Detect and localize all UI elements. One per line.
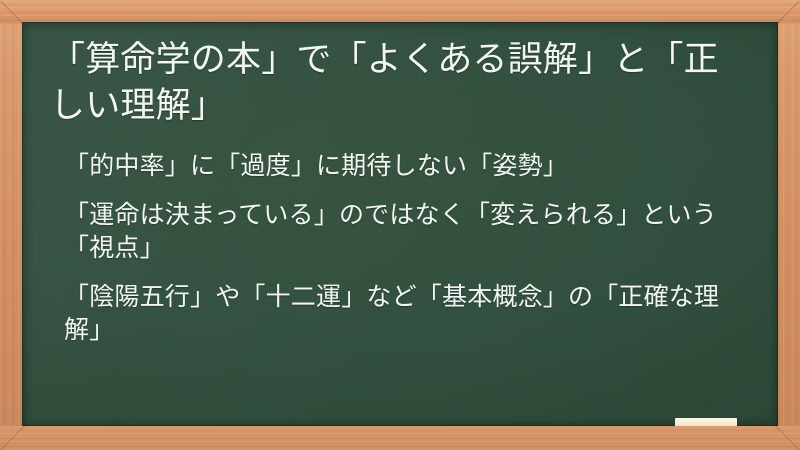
blackboard-slide: 「算命学の本」で「よくある誤解」と「正しい理解」 「的中率」に「過度」に期待しな… xyxy=(0,0,800,450)
page-title: 「算命学の本」で「よくある誤解」と「正しい理解」 xyxy=(50,38,750,129)
list-item: 「的中率」に「過度」に期待しない「姿勢」 xyxy=(50,149,744,183)
point-list: 「的中率」に「過度」に期待しない「姿勢」 「運命は決まっている」のではなく「変え… xyxy=(50,149,758,347)
list-item: 「運命は決まっている」のではなく「変えられる」という「視点」 xyxy=(50,198,744,265)
frame-rail-top xyxy=(0,0,800,24)
chalkboard-surface: 「算命学の本」で「よくある誤解」と「正しい理解」 「的中率」に「過度」に期待しな… xyxy=(22,22,778,426)
board-content: 「算命学の本」で「よくある誤解」と「正しい理解」 「的中率」に「過度」に期待しな… xyxy=(22,22,778,426)
chalk-stick-icon xyxy=(675,418,737,426)
list-item: 「陰陽五行」や「十二運」など「基本概念」の「正確な理解」 xyxy=(50,280,744,347)
frame-rail-bottom xyxy=(0,426,800,450)
